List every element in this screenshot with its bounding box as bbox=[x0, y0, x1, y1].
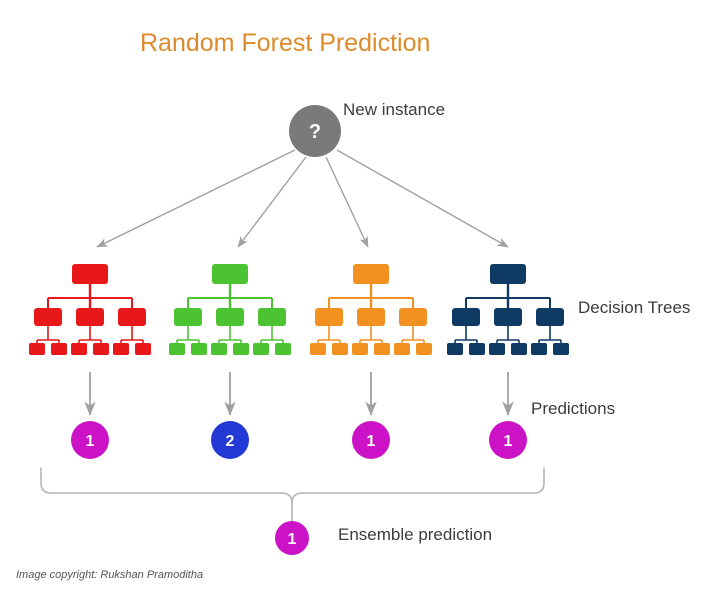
prediction-value-tree-red: 1 bbox=[86, 433, 95, 450]
tree-orange-mid-node-2 bbox=[399, 308, 427, 326]
tree-red-leaf-node-2-0 bbox=[113, 343, 129, 355]
tree-navy-prediction[interactable]: 1 bbox=[489, 372, 527, 459]
copyright-note: Image copyright: Rukshan Pramoditha bbox=[16, 569, 203, 581]
diagram-canvas: Random Forest Prediction ? New instance … bbox=[0, 0, 720, 597]
ensemble-prediction-node[interactable]: 1 bbox=[275, 521, 309, 555]
decision-trees-layer bbox=[29, 264, 569, 355]
new-instance-value: ? bbox=[309, 121, 321, 143]
arrow-root-to-tree-orange bbox=[326, 157, 368, 247]
new-instance-label: New instance bbox=[343, 100, 445, 119]
arrow-root-to-tree-green bbox=[238, 157, 306, 247]
tree-green-leaf-node-0-0 bbox=[169, 343, 185, 355]
tree-green-leaf-node-2-0 bbox=[253, 343, 269, 355]
tree-navy-leaf-node-0-0 bbox=[447, 343, 463, 355]
random-forest-diagram: Random Forest Prediction ? New instance … bbox=[0, 0, 720, 597]
tree-navy-mid-node-0 bbox=[452, 308, 480, 326]
tree-navy-leaf-node-0-1 bbox=[469, 343, 485, 355]
tree-orange-leaf-node-0-0 bbox=[310, 343, 326, 355]
tree-green-leaf-node-0-1 bbox=[191, 343, 207, 355]
tree-navy-leaf-node-1-0 bbox=[489, 343, 505, 355]
root-to-trees-arrows bbox=[97, 150, 508, 247]
tree-green-leaf-node-1-0 bbox=[211, 343, 227, 355]
ensemble-prediction-label: Ensemble prediction bbox=[338, 525, 492, 544]
tree-green-mid-node-0 bbox=[174, 308, 202, 326]
tree-orange-leaf-node-2-0 bbox=[394, 343, 410, 355]
tree-orange-root-node bbox=[353, 264, 389, 284]
tree-orange-leaf-node-1-0 bbox=[352, 343, 368, 355]
tree-green-leaf-node-1-1 bbox=[233, 343, 249, 355]
tree-orange-prediction[interactable]: 1 bbox=[352, 372, 390, 459]
tree-orange-mid-node-0 bbox=[315, 308, 343, 326]
tree-green-root-node bbox=[212, 264, 248, 284]
tree-orange-leaf-node-2-1 bbox=[416, 343, 432, 355]
tree-navy-root-node bbox=[490, 264, 526, 284]
tree-red-mid-node-0 bbox=[34, 308, 62, 326]
arrow-root-to-tree-navy bbox=[337, 150, 508, 247]
tree-navy-mid-node-1 bbox=[494, 308, 522, 326]
tree-orange-leaf-node-1-1 bbox=[374, 343, 390, 355]
prediction-value-tree-navy: 1 bbox=[504, 433, 513, 450]
tree-red-leaf-node-0-1 bbox=[51, 343, 67, 355]
tree-orange[interactable] bbox=[310, 264, 432, 355]
tree-navy-mid-node-2 bbox=[536, 308, 564, 326]
tree-green-mid-node-1 bbox=[216, 308, 244, 326]
tree-green[interactable] bbox=[169, 264, 291, 355]
brace-path bbox=[41, 468, 544, 503]
predictions-layer: 1211 bbox=[71, 372, 527, 459]
tree-navy[interactable] bbox=[447, 264, 569, 355]
predictions-label: Predictions bbox=[531, 399, 615, 418]
tree-green-mid-node-2 bbox=[258, 308, 286, 326]
arrow-root-to-tree-red bbox=[97, 150, 295, 247]
tree-orange-leaf-node-0-1 bbox=[332, 343, 348, 355]
tree-orange-mid-node-1 bbox=[357, 308, 385, 326]
new-instance-node[interactable]: ? bbox=[289, 105, 341, 157]
tree-red-leaf-node-1-0 bbox=[71, 343, 87, 355]
tree-red-mid-node-2 bbox=[118, 308, 146, 326]
ensemble-brace bbox=[41, 468, 544, 521]
page-title: Random Forest Prediction bbox=[140, 29, 430, 57]
tree-red-leaf-node-0-0 bbox=[29, 343, 45, 355]
tree-red-mid-node-1 bbox=[76, 308, 104, 326]
tree-red[interactable] bbox=[29, 264, 151, 355]
prediction-value-tree-orange: 1 bbox=[367, 433, 376, 450]
tree-green-prediction[interactable]: 2 bbox=[211, 372, 249, 459]
tree-navy-leaf-node-2-0 bbox=[531, 343, 547, 355]
ensemble-prediction-value: 1 bbox=[288, 531, 297, 548]
prediction-value-tree-green: 2 bbox=[226, 433, 235, 450]
tree-red-root-node bbox=[72, 264, 108, 284]
tree-red-prediction[interactable]: 1 bbox=[71, 372, 109, 459]
tree-navy-leaf-node-1-1 bbox=[511, 343, 527, 355]
tree-red-leaf-node-2-1 bbox=[135, 343, 151, 355]
tree-green-leaf-node-2-1 bbox=[275, 343, 291, 355]
decision-trees-label: Decision Trees bbox=[578, 298, 690, 317]
tree-navy-leaf-node-2-1 bbox=[553, 343, 569, 355]
tree-red-leaf-node-1-1 bbox=[93, 343, 109, 355]
